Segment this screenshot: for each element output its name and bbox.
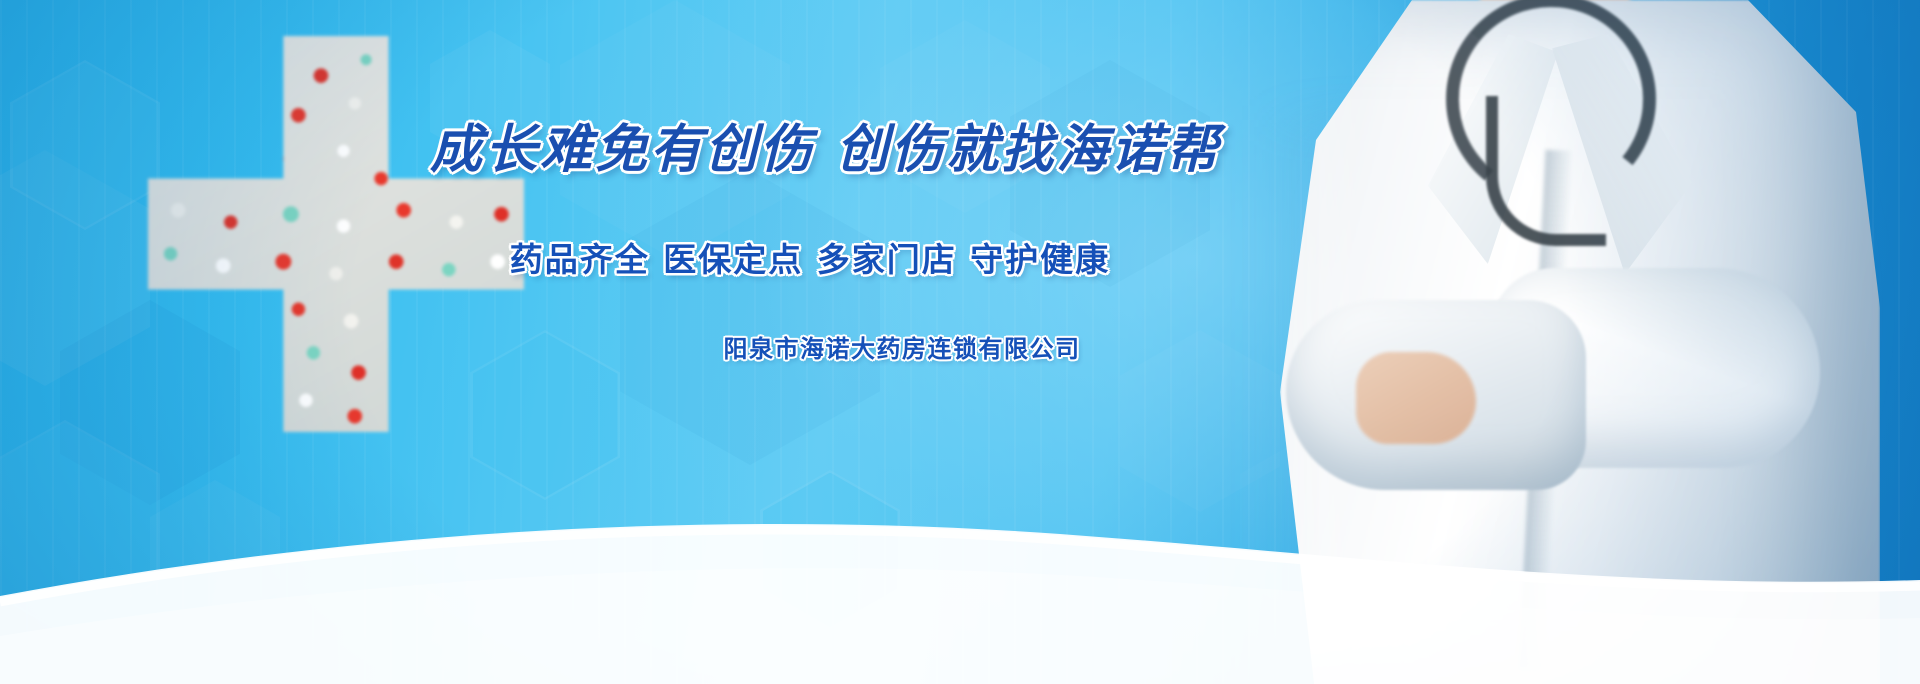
pharmacist-in-white-coat-photo xyxy=(1160,0,1920,684)
pharmacy-banner: 成长难免有创伤 创伤就找海诺帮 药品齐全 医保定点 多家门店 守护健康 阳泉市海… xyxy=(0,0,1920,684)
headline: 成长难免有创伤 创伤就找海诺帮 xyxy=(430,120,1190,181)
company-name: 阳泉市海诺大药房连锁有限公司 xyxy=(430,329,1190,364)
banner-text-block: 成长难免有创伤 创伤就找海诺帮 药品齐全 医保定点 多家门店 守护健康 阳泉市海… xyxy=(430,120,1190,364)
subtitle: 药品齐全 医保定点 多家门店 守护健康 xyxy=(430,233,1190,281)
stethoscope-tube-icon xyxy=(1486,96,1606,246)
